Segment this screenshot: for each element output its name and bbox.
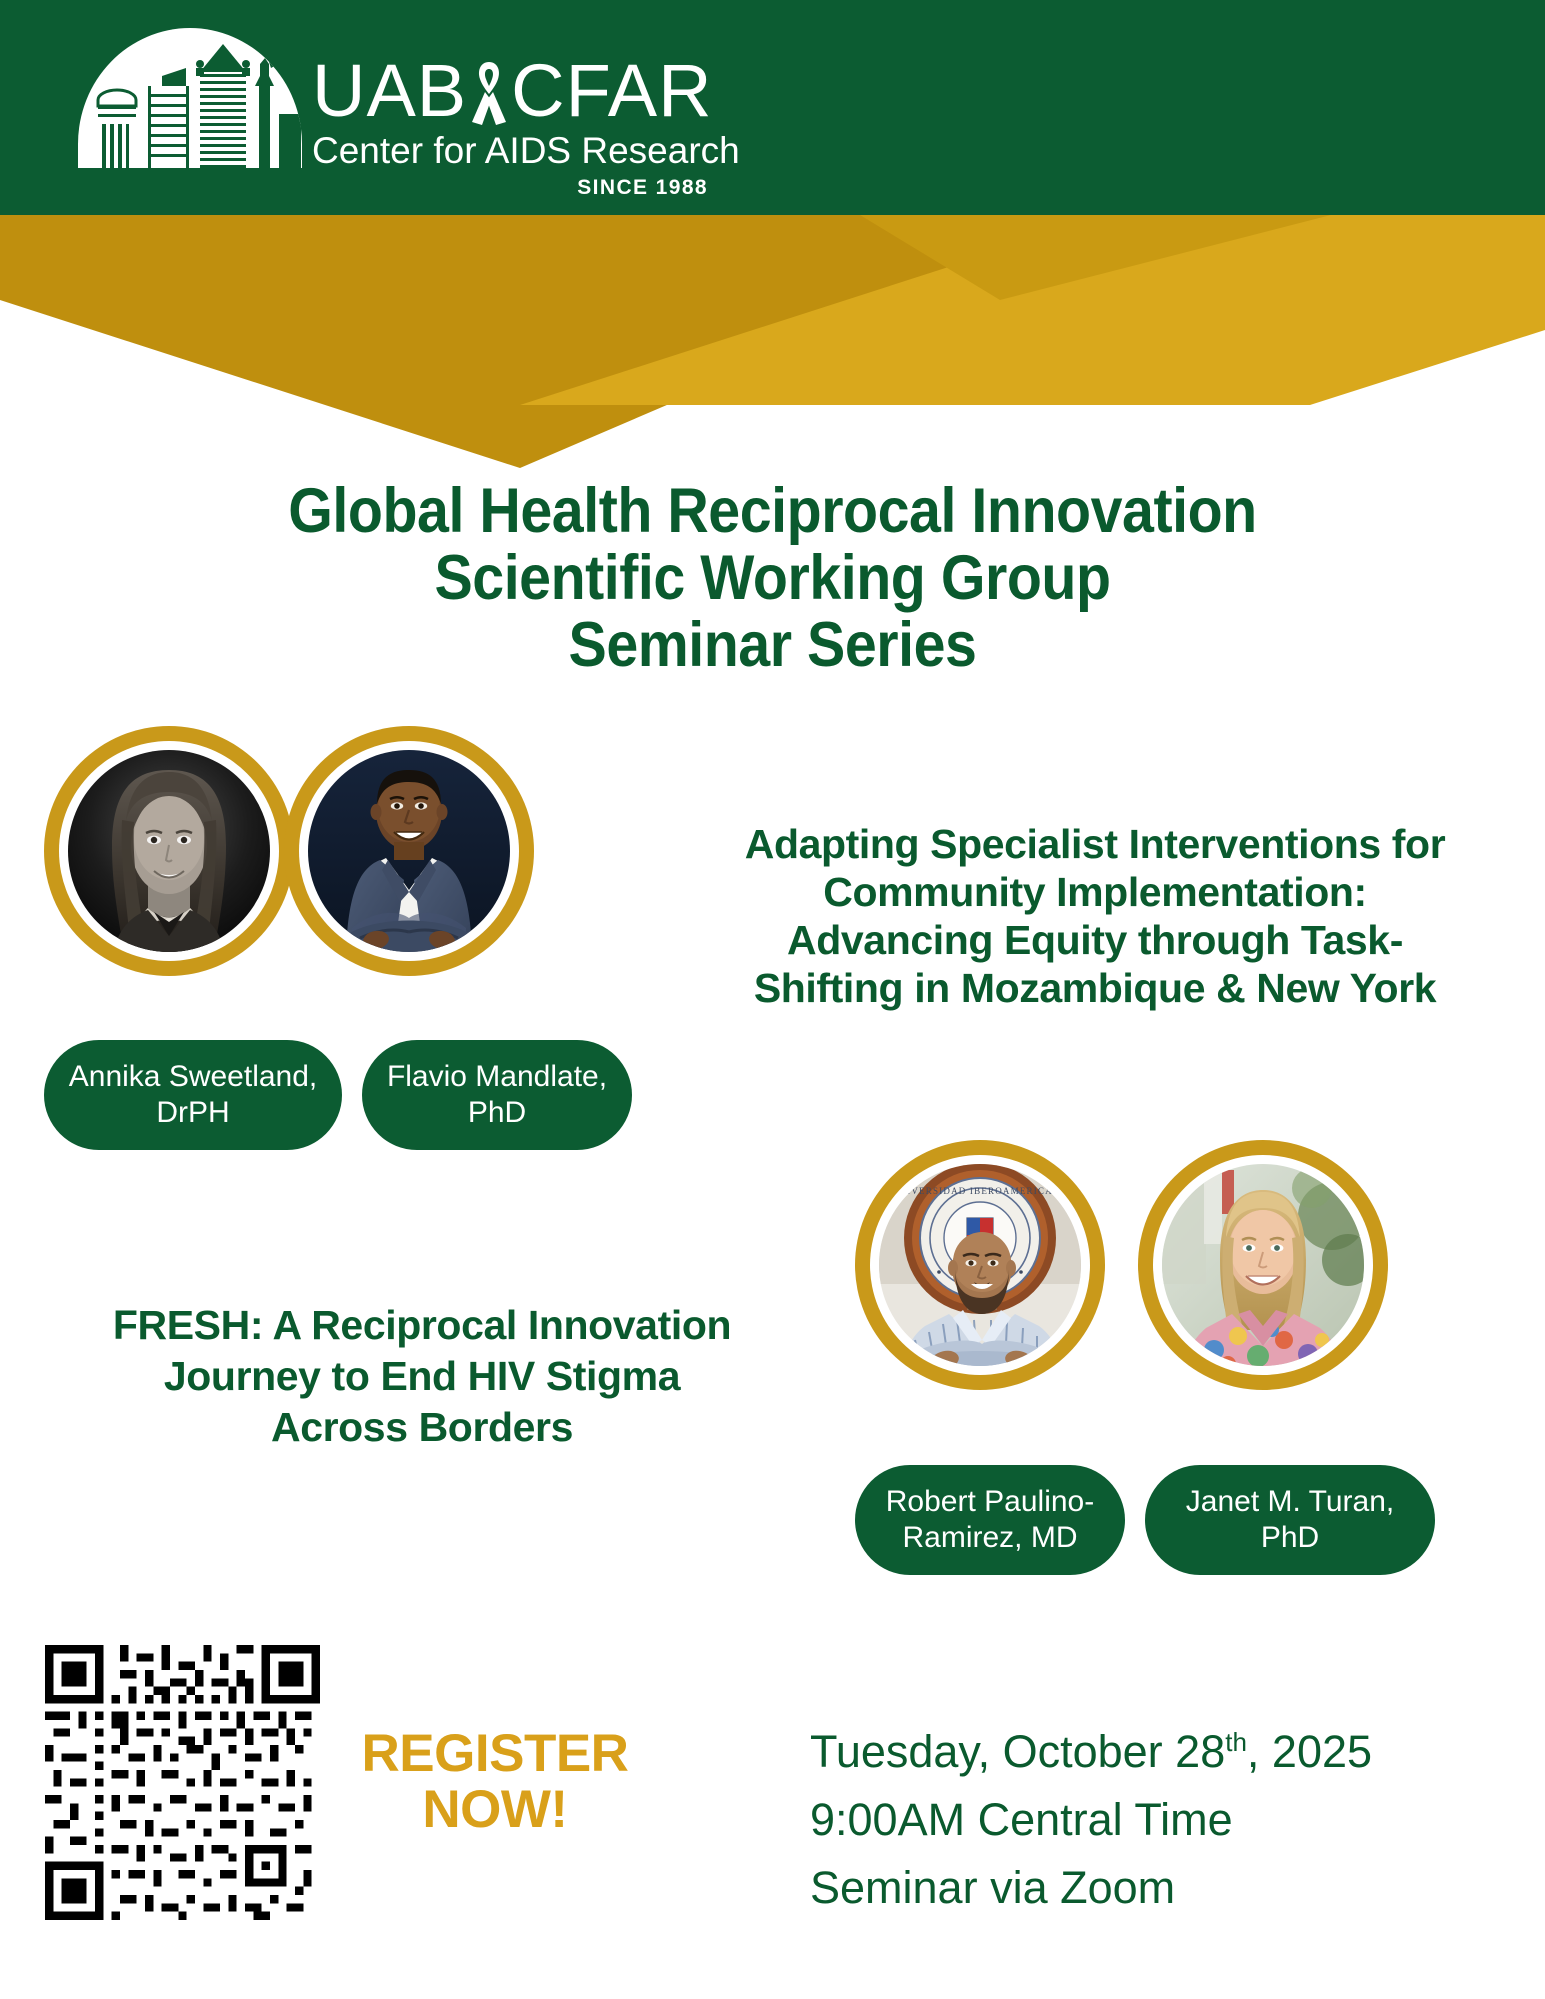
session-2-speaker-names: Robert Paulino- Ramirez, MD Janet M. Tur… xyxy=(855,1465,1465,1575)
session-1-title-line-2: Community Implementation: xyxy=(680,868,1510,916)
session-1-title-line-1: Adapting Specialist Interventions for xyxy=(680,820,1510,868)
event-date-ordinal: th xyxy=(1225,1727,1247,1757)
uab-arch-skyline-icon xyxy=(74,28,306,168)
event-location: Seminar via Zoom xyxy=(810,1854,1510,1922)
register-now-callout[interactable]: REGISTER NOW! xyxy=(345,1726,645,1838)
speaker-name-line-1: Janet M. Turan, xyxy=(1186,1485,1394,1518)
avatar xyxy=(284,726,534,976)
speaker-name-badge: Janet M. Turan, PhD xyxy=(1145,1465,1435,1575)
session-1-title-line-3: Advancing Equity through Task- xyxy=(680,916,1510,964)
session-1-title: Adapting Specialist Interventions for Co… xyxy=(680,820,1510,1012)
speaker-name-badge: Annika Sweetland, DrPH xyxy=(44,1040,342,1150)
session-2-speaker-photos: UNIVERSIDAD IBEROAMERICANA xyxy=(855,1140,1455,1390)
event-date: Tuesday, October 28th, 2025 xyxy=(810,1718,1510,1786)
aids-ribbon-icon xyxy=(467,56,511,130)
logo-subtitle: Center for AIDS Research xyxy=(312,130,712,172)
uab-cfar-logo: UAB CFAR Center for AIDS Research SINCE … xyxy=(74,28,714,196)
page-title-line-2: Scientific Working Group xyxy=(70,545,1476,612)
page-title: Global Health Reciprocal Innovation Scie… xyxy=(70,478,1476,679)
flavio-mandlate-photo xyxy=(308,750,510,952)
header-band: UAB CFAR Center for AIDS Research SINCE … xyxy=(0,0,1545,215)
robert-paulino-ramirez-photo: UNIVERSIDAD IBEROAMERICANA xyxy=(879,1164,1081,1366)
logo-wordmark: UAB CFAR xyxy=(312,54,712,128)
logo-since-label: SINCE 1988 xyxy=(312,175,712,201)
page-title-line-3: Seminar Series xyxy=(70,612,1476,679)
session-2-title: FRESH: A Reciprocal Innovation Journey t… xyxy=(52,1300,792,1453)
speaker-name-line-1: Robert Paulino- xyxy=(886,1485,1094,1518)
speaker-name-line-2: PhD xyxy=(468,1096,526,1129)
speaker-name-line-2: DrPH xyxy=(156,1096,229,1129)
avatar: UNIVERSIDAD IBEROAMERICANA xyxy=(855,1140,1105,1390)
event-time: 9:00AM Central Time xyxy=(810,1786,1510,1854)
event-date-year: , 2025 xyxy=(1247,1726,1372,1777)
avatar xyxy=(1138,1140,1388,1390)
session-1-speaker-photos xyxy=(44,726,534,976)
event-details: Tuesday, October 28th, 2025 9:00AM Centr… xyxy=(810,1718,1510,1922)
speaker-name-line-1: Annika Sweetland, xyxy=(69,1060,318,1093)
svg-text:UNIVERSIDAD IBEROAMERICANA: UNIVERSIDAD IBEROAMERICANA xyxy=(892,1186,1068,1196)
session-1-title-line-4: Shifting in Mozambique & New York xyxy=(680,964,1510,1012)
logo-wordmark-cfar: CFAR xyxy=(511,54,712,128)
event-date-text: Tuesday, October 28 xyxy=(810,1726,1225,1777)
avatar xyxy=(44,726,294,976)
register-label-line-2: NOW! xyxy=(345,1782,645,1838)
session-2-title-line-2: Journey to End HIV Stigma xyxy=(52,1351,792,1402)
speaker-name-line-1: Flavio Mandlate, xyxy=(387,1060,607,1093)
session-1-speaker-names: Annika Sweetland, DrPH Flavio Mandlate, … xyxy=(44,1040,704,1150)
speaker-name-badge: Robert Paulino- Ramirez, MD xyxy=(855,1465,1125,1575)
register-label-line-1: REGISTER xyxy=(345,1726,645,1782)
speaker-name-line-2: PhD xyxy=(1261,1521,1319,1554)
session-2-title-line-3: Across Borders xyxy=(52,1402,792,1453)
page-title-line-1: Global Health Reciprocal Innovation xyxy=(70,478,1476,545)
registration-qr-code[interactable] xyxy=(45,1645,320,1920)
speaker-name-badge: Flavio Mandlate, PhD xyxy=(362,1040,632,1150)
session-2-title-line-1: FRESH: A Reciprocal Innovation xyxy=(52,1300,792,1351)
speaker-name-line-2: Ramirez, MD xyxy=(902,1521,1077,1554)
janet-m-turan-photo xyxy=(1162,1164,1364,1366)
logo-wordmark-uab: UAB xyxy=(312,54,467,128)
annika-sweetland-photo xyxy=(68,750,270,952)
